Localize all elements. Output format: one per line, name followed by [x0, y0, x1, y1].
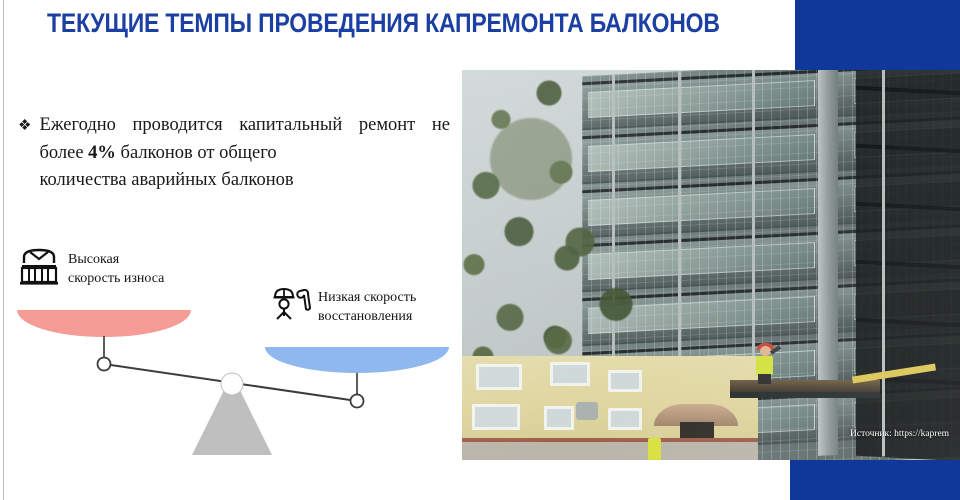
- photo-building-renovation: Источник: https://kaprem: [462, 70, 960, 460]
- bullet-line-1: Ежегодно проводится капитальный ремонт: [39, 115, 415, 135]
- photo-vertical-mast: [818, 70, 838, 456]
- presentation-slide: ТЕКУЩИЕ ТЕМПЫ ПРОВЕДЕНИЯ КАПРЕМОНТА БАЛК…: [0, 0, 960, 500]
- balcony-railing-icon: [18, 248, 60, 286]
- bullet-line-2b: балконов от общего: [121, 143, 277, 163]
- accent-panel-top-right: [795, 0, 960, 72]
- label-high-line1: Высокая: [68, 250, 218, 269]
- bullet-diamond-icon: ❖: [18, 112, 31, 195]
- photo-dark-scaffold: [856, 70, 960, 460]
- photo-scaffold-platform-rail: [730, 392, 880, 398]
- photo-source-caption: Источник: https://kaprem: [850, 428, 949, 440]
- scale-knob-right: [351, 395, 364, 408]
- scale-knob-left: [98, 358, 111, 371]
- bullet-point: ❖ Ежегодно проводится капитальный ремонт…: [18, 112, 450, 195]
- label-high-line2: скорость износа: [68, 269, 218, 288]
- label-high-wear-rate: Высокая скорость износа: [68, 250, 218, 288]
- slide-title: ТЕКУЩИЕ ТЕМПЫ ПРОВЕДЕНИЯ КАПРЕМОНТА БАЛК…: [47, 8, 659, 38]
- photo-worker-on-scaffold: [752, 346, 778, 382]
- photo-ground: [462, 442, 758, 460]
- bullet-line-3: количества аварийных балконов: [39, 167, 450, 195]
- photo-worker-ground-vest: [648, 438, 661, 460]
- photo-ac-unit: [576, 402, 598, 420]
- bullet-text: Ежегодно проводится капитальный ремонт н…: [39, 112, 450, 195]
- accent-panel-bottom-right: [790, 459, 960, 500]
- balance-scale-graphic: [0, 300, 460, 460]
- bullet-highlight-percent: 4%: [88, 143, 116, 163]
